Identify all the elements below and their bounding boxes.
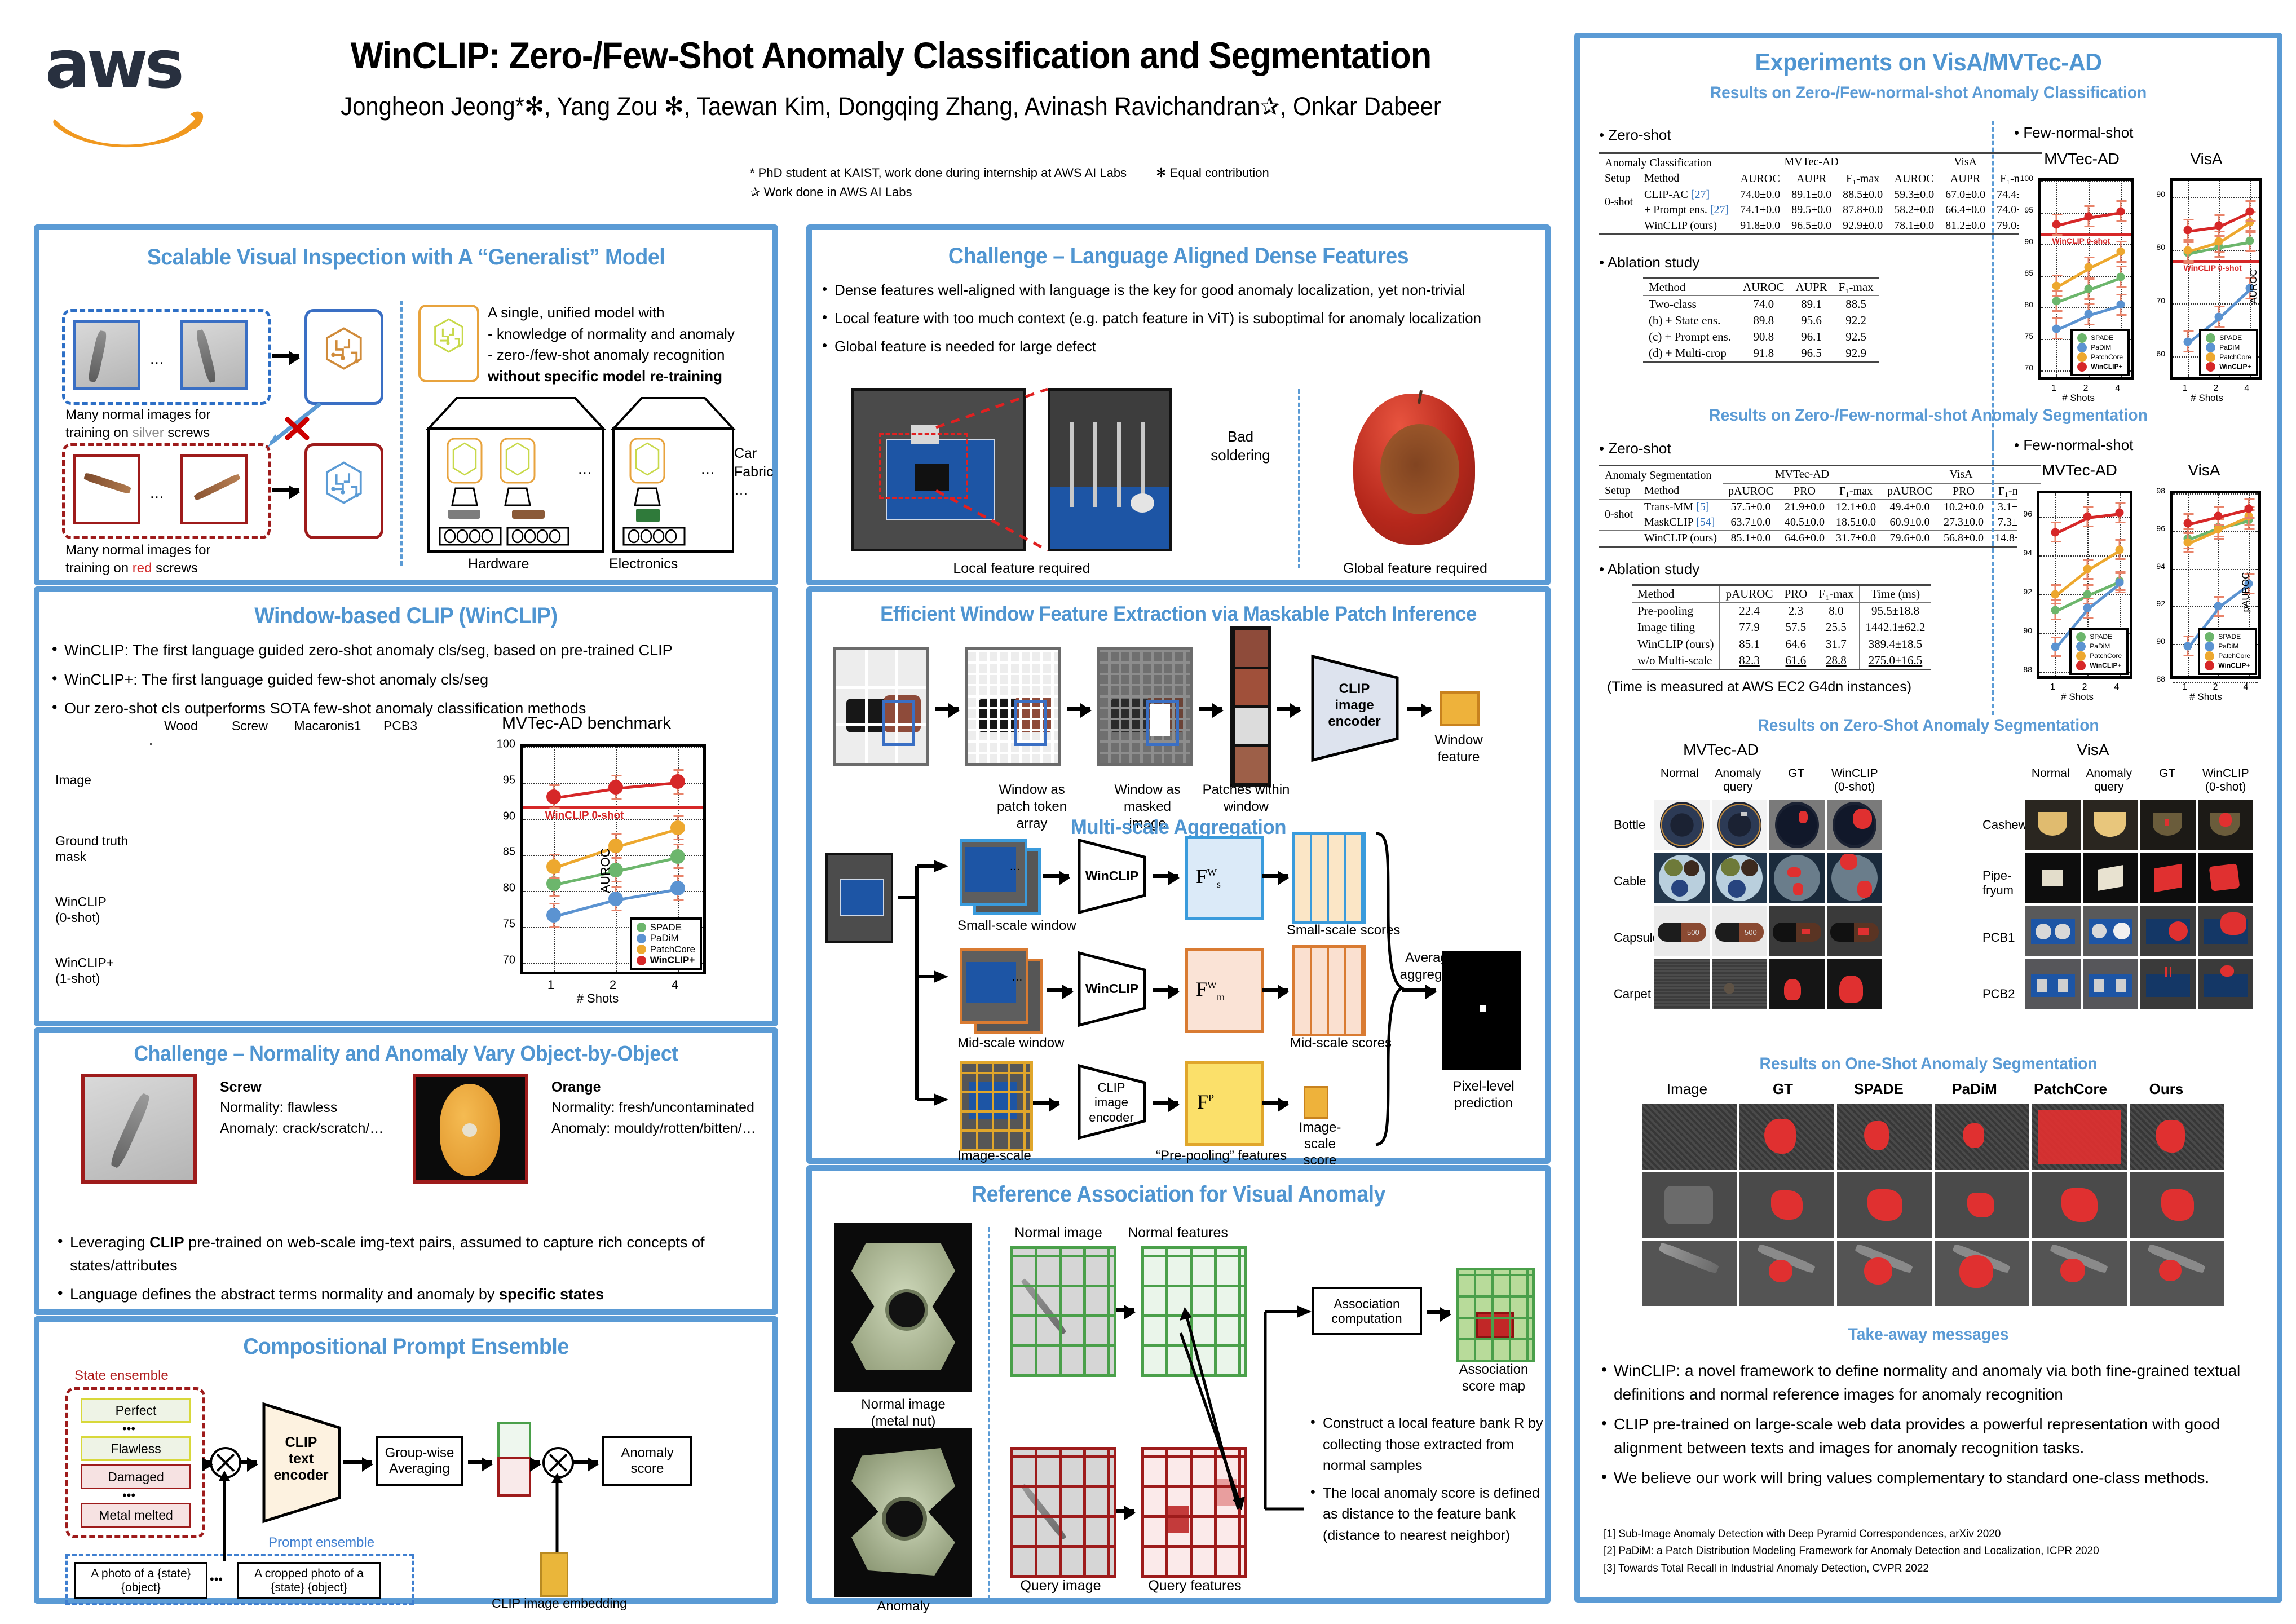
arrow-silver-to-model (272, 354, 299, 358)
data-point (670, 849, 685, 864)
os-col-headers: Image GT SPADE PaDiM PatchCore Ours (1642, 1080, 2228, 1098)
bullet-zero-shot-seg: • Zero-shot (1599, 440, 1671, 457)
red-screw-caption: Many normal images for training on red s… (65, 541, 280, 578)
y-tick-label: 88 (2146, 674, 2165, 683)
silver-screw-image-1 (73, 320, 140, 390)
table-row: (c) + Prompt ens.90.896.192.5 (1643, 329, 1879, 345)
y-tick-label: 85 (485, 846, 515, 859)
state-ensemble-group: Perfect ••• Flawless Damaged ••• Metal m… (65, 1387, 205, 1538)
small-scale-score-map (1292, 832, 1366, 924)
y-tick-label: 90 (2019, 237, 2033, 246)
chart-seg-fewshot-visa: SPADEPaDiMPatchCoreWinCLIP+8890929496981… (2146, 485, 2266, 704)
aws-logo: aws (45, 31, 220, 155)
label-zs-mvtec: MVTec-AD (1648, 741, 1794, 759)
normal-metal-nut-image (834, 1223, 972, 1392)
bullet-few-shot-cls: • Few-normal-shot (2014, 124, 2133, 142)
oneshot-image-grid (1642, 1104, 2224, 1306)
zs-col-normal: Normal (1654, 767, 1705, 794)
os-col-patchcore: PatchCore (2025, 1080, 2116, 1098)
brain-chip-icon-3 (427, 316, 470, 363)
pixel-level-prediction-image (1442, 951, 1521, 1070)
arrow-w4 (1277, 707, 1300, 710)
arrow-ms2a (1047, 988, 1072, 992)
table-row: WinCLIP (ours)85.1±0.064.6±0.031.7±0.079… (1599, 530, 2041, 546)
references-list: [1] Sub-Image Anomaly Detection with Dee… (1604, 1526, 2269, 1577)
img-pcb1-winclip (2198, 906, 2253, 956)
ra-bullet-0: Construct a local feature bank R by coll… (1308, 1413, 1545, 1477)
y-tick-label: 96 (2146, 524, 2165, 533)
orange-example-image (413, 1074, 528, 1184)
y-axis-title: AUROC (598, 738, 613, 1003)
zs-col-gt: GT (1771, 767, 1822, 794)
panel8-divider (988, 1227, 990, 1599)
reference-1: [2] PaDiM: a Patch Distribution Modeling… (1604, 1543, 2269, 1560)
data-point (2052, 281, 2061, 290)
subtitle-oneshot-seg: Results on One-Shot Anomaly Segmentation (1601, 1054, 2256, 1074)
arrow-mult2-to-score (573, 1460, 598, 1464)
table-seg-ablation: MethodpAUROCPROF₁-maxTime (ms) Pre-pooli… (1632, 584, 1931, 670)
chart-title-cls-visa: VisA (2153, 150, 2260, 168)
arrow-emb-to-mult2 (531, 1460, 540, 1464)
data-point (2052, 220, 2061, 229)
x-axis-title: # Shots (2017, 691, 2137, 703)
gridline-h (523, 747, 703, 748)
aws-wordmark: aws (45, 31, 220, 98)
y-tick-label: 90 (2017, 626, 2032, 635)
legend-item: PaDiM (2206, 343, 2251, 352)
x-axis-title: # Shots (485, 991, 710, 1006)
data-point (2184, 337, 2192, 346)
ellipsis-2: … (149, 484, 164, 502)
section-title-reference-association: Reference Association for Visual Anomaly (834, 1182, 1523, 1207)
data-point (2085, 310, 2093, 319)
img-capsule-normal: 500 (1654, 906, 1710, 956)
legend-item: PatchCore (2206, 352, 2251, 362)
factory-other-labels: Car Fabric … (734, 444, 773, 500)
arrow-ms2b (1153, 988, 1178, 992)
window-patch-token-array (965, 647, 1061, 766)
cell-method: CLIP-AC [27] (1639, 187, 1734, 202)
data-point (2116, 248, 2125, 256)
panel-window-based-clip: Window-based CLIP (WinCLIP) WinCLIP: The… (34, 586, 778, 1026)
os-col-ours: Ours (2121, 1080, 2211, 1098)
reference-0: [1] Sub-Image Anomaly Detection with Dee… (1604, 1526, 2269, 1543)
data-point (546, 908, 561, 923)
mid-scale-score-map (1292, 945, 1366, 1036)
img-cashew-anomaly (2083, 800, 2138, 850)
red-word: red (133, 561, 152, 576)
data-point (2215, 222, 2223, 230)
y-tick-label: 90 (2146, 637, 2165, 646)
dense-bullet-2: Global feature is needed for large defec… (820, 336, 1534, 358)
takeaway-bullet-1: CLIP pre-trained on large-scale web data… (1599, 1413, 2264, 1460)
img-bottle-anomaly (1712, 800, 1767, 850)
data-point (670, 774, 685, 789)
svg-text:…: … (700, 460, 715, 477)
os-col-gt: GT (1738, 1080, 1828, 1098)
legend-item: PaDiM (637, 933, 695, 944)
os-col-spade: SPADE (1834, 1080, 1924, 1098)
gridline-h (2173, 197, 2259, 198)
arrow-ms3b (1153, 1101, 1178, 1105)
poster-title: WinCLIP: Zero-/Few-Shot Anomaly Classifi… (288, 34, 1494, 77)
arrow-state-to-mult (204, 1460, 212, 1464)
data-point (2184, 642, 2192, 650)
window-masked-image (1097, 647, 1193, 766)
legend-item: SPADE (2206, 333, 2251, 343)
col-header-screw: Screw (219, 718, 281, 734)
window-src-image (833, 647, 929, 766)
series-segment (616, 857, 678, 873)
poster-root: aws WinCLIP: Zero-/Few-Shot Anomaly Clas… (0, 0, 2296, 1624)
state-ensemble-label: State ensemble (74, 1368, 169, 1384)
y-tick-label: 100 (2019, 174, 2033, 183)
zs-row-bottle: Bottle (1614, 818, 1645, 832)
col-header-wood: Wood (150, 718, 212, 734)
prompt-template-2: A cropped photo of a {state} {object} (237, 1562, 381, 1599)
y-tick-label: 88 (2017, 665, 2032, 674)
takeaway-bullet-0: WinCLIP: a novel framework to define nor… (1599, 1359, 2264, 1406)
arrow-group-to-emb (468, 1460, 492, 1464)
y-tick-label: 96 (2017, 509, 2032, 518)
img-carpet-normal (1654, 959, 1710, 1009)
y-tick-label: 80 (485, 882, 515, 895)
img-cable-winclip (1827, 853, 1882, 903)
plot-area: SPADEPaDiMPatchCoreWinCLIP+ (2037, 491, 2132, 679)
arrow-aggregation-out (1402, 988, 1436, 992)
y-tick-label: 80 (2147, 242, 2165, 251)
state-dots-2: ••• (122, 1488, 135, 1503)
zs-col-anomaly-query-2: Anomalyquery (2084, 767, 2135, 794)
x-tick-label: 1 (547, 978, 554, 992)
img-pcb1-gt (2140, 906, 2196, 956)
y-tick-label: 94 (2017, 548, 2032, 557)
section-title-experiments: Experiments on VisA/MVTec-AD (1601, 48, 2256, 77)
y-tick-label: 60 (2147, 349, 2165, 358)
zs-col-gt-2: GT (2142, 767, 2193, 794)
data-point (2115, 545, 2123, 554)
winclip-label-1: WinCLIP (1078, 868, 1146, 884)
clip-encoder-label-3: CLIPimageencoder (1080, 1080, 1142, 1125)
data-point (2083, 513, 2092, 521)
svg-text:…: … (577, 460, 592, 477)
col-label-normal-image: Normal image (1010, 1225, 1106, 1241)
y-axis-title: pAUROC (2240, 483, 2251, 701)
gridline-h (2173, 303, 2259, 304)
img-pcb2-gt (2140, 959, 2196, 1009)
data-point (2085, 285, 2093, 293)
multiscale-input-image (825, 853, 893, 943)
silver-screw-caption: Many normal images for training on silve… (65, 406, 280, 443)
factory-label-hardware: Hardware (468, 556, 529, 572)
img-pcb2-winclip (2198, 959, 2253, 1009)
image-scale-feature-cube: FP (1185, 1061, 1264, 1146)
table-zero-shot-classification: Anomaly ClassificationMVTec-ADVisA Setup… (1599, 152, 2042, 235)
series-segment (616, 888, 678, 902)
zs-row-pipefryum: Pipe-fryum (1982, 868, 2014, 898)
data-point (2051, 528, 2060, 536)
unified-b1: - knowledge of normality and anomaly (488, 324, 770, 345)
img-cashew-gt (2140, 800, 2196, 850)
data-point (2051, 606, 2060, 614)
multiscale-split-arrows (894, 857, 956, 1120)
os-col-padim: PaDiM (1929, 1080, 2020, 1098)
reference-2: [3] Towards Total Recall in Industrial A… (1604, 1560, 2269, 1577)
table-row: (d) + Multi-crop91.896.592.9 (1643, 345, 1879, 363)
label-mid-scale-window: Mid-scale window (957, 1035, 1064, 1051)
bad-soldering-label: Badsoldering (1190, 427, 1291, 464)
os-r1-ours (2130, 1104, 2224, 1170)
bullet-zero-shot-cls: • Zero-shot (1599, 126, 1671, 144)
winclip-label-2: WinCLIP (1078, 981, 1146, 996)
table-row: Image tiling77.957.525.51442.1±62.2 (1632, 619, 1931, 636)
section-title-winclip: Window-based CLIP (WinCLIP) (61, 603, 750, 629)
img-cashew-winclip (2198, 800, 2253, 850)
panel-experiments: Experiments on VisA/MVTec-AD Results on … (1574, 33, 2282, 1603)
panel5-divider (1298, 389, 1300, 568)
anomaly-metal-nut-image (834, 1428, 972, 1597)
data-point (670, 881, 685, 895)
arrow-ms3a (1033, 1101, 1059, 1105)
label-image-scale-score: Image-scalescore (1283, 1120, 1357, 1168)
zs-row-cashew: Cashew (1982, 818, 2027, 832)
time-note: (Time is measured at AWS EC2 G4dn instan… (1607, 679, 1911, 695)
arrow-red-to-model (272, 488, 299, 492)
normality-bullet-states: Language defines the abstract terms norm… (55, 1283, 758, 1306)
state-chip-damaged: Damaged (81, 1464, 191, 1489)
ra-bullet-1: The local anomaly score is defined as di… (1308, 1483, 1545, 1547)
unified-model-text: A single, unified model with - knowledge… (488, 302, 770, 387)
img-capsule-gt (1769, 906, 1825, 956)
state-chip-metal-melted: Metal melted (81, 1503, 191, 1528)
factory-diagram: … … (423, 389, 739, 558)
zero-shot-baseline-label: WinCLIP 0-shot (2052, 236, 2110, 245)
y-tick-label: 85 (2019, 268, 2033, 277)
series-segment (2087, 550, 2121, 572)
chart-title-mvtec-benchmark: MVTec-AD benchmark (468, 714, 705, 733)
data-point (2116, 207, 2125, 215)
cell-pcb-winclip1 (150, 743, 152, 745)
winclip-bullet-0: WinCLIP: The first language guided zero-… (50, 639, 758, 662)
os-r1-padim (1935, 1104, 2029, 1170)
legend-item: WinCLIP+ (2076, 661, 2122, 670)
prompt-ensemble-group: A photo of a {state} {object} ••• A crop… (65, 1554, 414, 1605)
zs-col-winclip-2: WinCLIP(0-shot) (2201, 767, 2251, 794)
table-zero-shot-segmentation: Anomaly SegmentationMVTec-ADVisA SetupMe… (1599, 465, 2041, 548)
data-point (2052, 297, 2061, 305)
subtitle-classification-results: Results on Zero-/Few-normal-shot Anomaly… (1601, 83, 2256, 103)
label-small-scale-window: Small-scale window (957, 918, 1076, 934)
zs-visa-col-headers: Normal Anomalyquery GT WinCLIP(0-shot) (2025, 767, 2251, 794)
label-association-score-map: Associationscore map (1446, 1361, 1542, 1395)
img-cable-anomaly (1712, 853, 1767, 903)
zs-row-pcb2: PCB2 (1982, 987, 2015, 1001)
red-screw-group: … (62, 443, 271, 539)
data-point (670, 820, 685, 835)
normality-bullet-clip: Leveraging CLIP pre-trained on web-scale… (55, 1231, 758, 1277)
prompt-dots: ••• (210, 1572, 223, 1587)
img-pipefryum-normal (2025, 853, 2081, 903)
clip-text-encoder-label: CLIPtextencoder (267, 1435, 335, 1483)
zoom-connector-lines (913, 382, 1054, 557)
normal-image-grid (1010, 1246, 1116, 1377)
winclip-bullet-1: WinCLIP+: The first language guided few-… (50, 668, 758, 691)
arrow-assoc-to-map (1427, 1310, 1450, 1314)
col-header-macaronis1: Macaronis1 (285, 718, 370, 734)
caption-normal-metal-nut: Normal image(metal nut) (831, 1396, 975, 1430)
y-tick-label: 94 (2146, 562, 2165, 571)
y-tick-label: 70 (2019, 363, 2033, 372)
association-score-map (1456, 1268, 1535, 1362)
img-pcb1-normal (2025, 906, 2081, 956)
data-point (2214, 512, 2223, 520)
association-crossing-arrows (1137, 1278, 1261, 1526)
data-point (2184, 538, 2192, 546)
query-image-grid (1010, 1447, 1116, 1578)
mid-scale-window-stack: … (960, 948, 1044, 1033)
data-point (2215, 313, 2223, 321)
os-r2-patchcore (2032, 1172, 2127, 1238)
chart-legend: SPADEPaDiMPatchCoreWinCLIP+ (2069, 628, 2129, 675)
y-tick-label: 92 (2017, 587, 2032, 596)
img-pcb1-anomaly (2083, 906, 2138, 956)
window-feature-label: Windowfeature (1422, 732, 1495, 766)
os-r3-ours (2130, 1241, 2224, 1306)
img-pipefryum-anomaly (2083, 853, 2138, 903)
aws-smile-icon (53, 104, 205, 149)
model-red (304, 443, 383, 539)
img-carpet-gt (1769, 959, 1825, 1009)
unified-b3: without specific model re-training (488, 366, 770, 387)
footnote-aws: ✰ Work done in AWS AI Labs (750, 183, 1539, 202)
y-tick-label: 100 (485, 738, 515, 751)
panel-compositional-prompt-ensemble: Compositional Prompt Ensemble State ense… (34, 1316, 778, 1604)
gridline-h (2041, 181, 2131, 182)
label-zs-visa: VisA (2020, 741, 2166, 759)
table-row: WinCLIP (ours)91.8±0.096.5±0.092.9±0.078… (1599, 218, 2042, 234)
state-chip-flawless: Flawless (81, 1436, 191, 1461)
y-tick-label: 80 (2019, 300, 2033, 309)
groupwise-averaging-node: Group-wiseAveraging (376, 1436, 463, 1486)
data-point (2115, 509, 2123, 517)
prompt-ensemble-label: Prompt ensemble (268, 1535, 374, 1551)
model-silver (304, 309, 383, 405)
qualitative-image-grid (150, 743, 443, 989)
arrow-w2 (1067, 707, 1090, 710)
unified-head: A single, unified model with (488, 302, 770, 324)
row-header-winclip0: WinCLIP(0-shot) (55, 894, 107, 925)
winclip-bullets: WinCLIP: The first language guided zero-… (50, 639, 758, 720)
zs-row-cable: Cable (1614, 874, 1646, 889)
local-feature-caption: Local feature required (937, 561, 1106, 577)
data-point (2184, 226, 2192, 234)
os-r3-image (1642, 1241, 1737, 1306)
dense-bullet-0: Dense features well-aligned with languag… (820, 279, 1534, 301)
silver-screw-group: … (62, 309, 271, 405)
pcb-zoom-image (1048, 388, 1172, 551)
img-bottle-winclip (1827, 800, 1882, 850)
panel-language-aligned-dense-features: Challenge – Language Aligned Dense Featu… (806, 224, 1551, 585)
data-point (2051, 643, 2060, 651)
img-capsule-winclip (1827, 906, 1882, 956)
table-row: w/o Multi-scale82.361.628.8275.0±16.5 (1632, 652, 1931, 670)
dense-bullet-1: Local feature with too much context (e.g… (820, 307, 1534, 329)
zs-row-pcb1: PCB1 (1982, 930, 2015, 945)
unified-b2: - zero-/few-shot anomaly recognition (488, 345, 770, 366)
data-point (2083, 565, 2092, 573)
legend-item: PatchCore (2076, 651, 2122, 661)
dense-bullets: Dense features well-aligned with languag… (820, 279, 1534, 358)
global-feature-caption: Global feature required (1319, 561, 1511, 577)
os-r3-padim (1935, 1241, 2029, 1306)
title-block: WinCLIP: Zero-/Few-Shot Anomaly Classifi… (242, 34, 1539, 121)
row-header-winclip1: WinCLIP+(1-shot) (55, 955, 114, 986)
img-bottle-normal (1654, 800, 1710, 850)
silver-word: silver (133, 425, 164, 440)
plot-area: WinCLIP 0-shotSPADEPaDiMPatchCoreWinCLIP… (520, 744, 706, 974)
x-tick-label: 4 (672, 978, 678, 992)
img-cable-normal (1654, 853, 1710, 903)
y-tick-label: 90 (485, 810, 515, 823)
chart-title-seg-visa: VisA (2151, 461, 2258, 479)
table-row: 0-shotCLIP-AC [27]74.0±0.089.1±0.088.5±0… (1599, 187, 2042, 202)
screw-desc: Screw Normality: flawless Anomaly: crack… (220, 1077, 383, 1138)
bullet-ablation-seg: • Ablation study (1599, 561, 1699, 578)
state-dots-1: ••• (122, 1422, 135, 1436)
img-carpet-anomaly (1712, 959, 1767, 1009)
arrow-ms1b (1153, 874, 1178, 878)
table-row: + Prompt ens. [27]74.1±0.089.5±0.087.8±0… (1599, 202, 2042, 218)
data-point (546, 859, 561, 874)
table-row: WinCLIP (ours)85.164.631.7389.4±18.5 (1632, 636, 1931, 653)
section-title-takeaway: Take-away messages (1601, 1325, 2256, 1344)
y-tick-label: 98 (2146, 486, 2165, 495)
legend-item: WinCLIP+ (2206, 362, 2251, 372)
data-point (2052, 324, 2061, 333)
poster-authors: Jongheon Jeong*✻, Yang Zou ✻, Taewan Kim… (288, 91, 1494, 121)
data-point (2051, 590, 2060, 599)
clip-image-embedding-bar (540, 1552, 568, 1597)
arrow-ms1c (1262, 874, 1288, 878)
patches-within-window-strip (1230, 626, 1271, 787)
legend-item: PatchCore (637, 944, 695, 955)
data-point (2214, 602, 2223, 611)
footnote-equal: ✻ Equal contribution (1156, 164, 1269, 183)
os-r1-spade (1837, 1104, 1932, 1170)
silver-screw-image-2 (180, 320, 248, 390)
retrain-not-allowed (258, 399, 332, 456)
y-tick-label: 95 (2019, 205, 2033, 214)
arrow-ms1a (1043, 874, 1069, 878)
arrow-image-emb-up (547, 1472, 569, 1562)
section-title-cpe: Compositional Prompt Ensemble (61, 1334, 750, 1360)
arrow-mult-to-encoder (240, 1460, 257, 1464)
arrow-w3 (1199, 707, 1222, 710)
arrow-normal-to-features (1116, 1308, 1134, 1312)
apple-image (1319, 389, 1511, 550)
legend-item: PaDiM (2076, 642, 2122, 651)
os-r1-patchcore (2032, 1104, 2127, 1170)
img-pipefryum-gt (2140, 853, 2196, 903)
data-point (2085, 263, 2093, 272)
table-row: Two-class74.089.188.5 (1643, 296, 1879, 313)
series-segment (616, 828, 678, 849)
y-tick-label: 70 (2147, 296, 2165, 305)
table-row: Pre-pooling22.42.38.095.5±18.8 (1632, 603, 1931, 620)
data-point (2116, 273, 2125, 281)
x-axis-title: # Shots (2019, 392, 2138, 404)
section-title-scalable: Scalable Visual Inspection with A “Gener… (61, 245, 750, 270)
